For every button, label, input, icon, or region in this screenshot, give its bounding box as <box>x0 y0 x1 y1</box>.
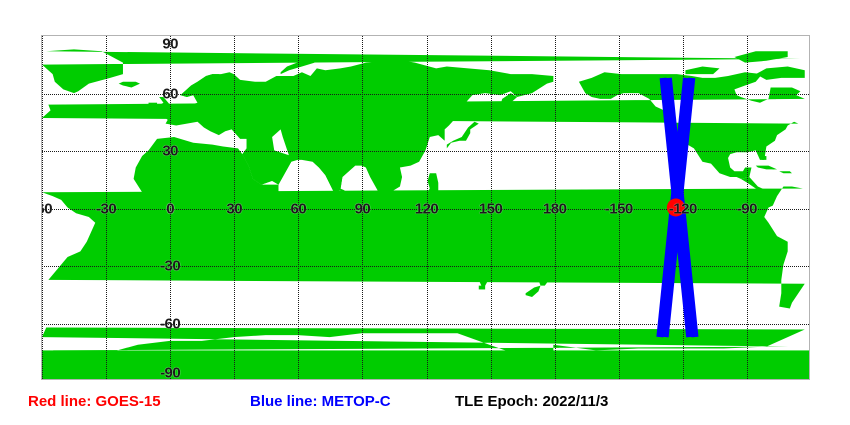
lon-tick-label: -90 <box>737 200 757 217</box>
lon-tick-label: -60 <box>42 200 52 217</box>
lon-tick-label: 90 <box>355 200 371 217</box>
map-plot-frame: -300306090120150180-150-120-90-609060300… <box>41 35 810 380</box>
lat-tick-label: -90 <box>160 365 180 380</box>
lat-tick-label: 30 <box>162 143 178 160</box>
lon-tick-label: 120 <box>415 200 439 217</box>
lon-tick-label: 180 <box>543 200 567 217</box>
lon-tick-label: 60 <box>290 200 306 217</box>
map-clip: -300306090120150180-150-120-90-609060300… <box>42 36 809 379</box>
lon-tick-label: -30 <box>96 200 116 217</box>
lat-tick-label: 60 <box>162 85 178 102</box>
legend-tle-epoch: TLE Epoch: 2022/11/3 <box>455 392 608 412</box>
lon-tick-label: -120 <box>669 200 697 217</box>
lon-tick-label: 30 <box>226 200 242 217</box>
lat-tick-label: -30 <box>160 258 180 275</box>
legend-red-line-goes15: Red line: GOES-15 <box>28 392 161 412</box>
lon-tick-label: 150 <box>479 200 503 217</box>
lat-tick-label: 0 <box>166 200 174 217</box>
lon-tick-label: -150 <box>605 200 633 217</box>
lat-tick-label: 90 <box>162 36 178 53</box>
legend: Red line: GOES-15 Blue line: METOP-C TLE… <box>0 392 850 418</box>
legend-blue-line-metopc: Blue line: METOP-C <box>250 392 391 412</box>
satellite-ground-track-map: -300306090120150180-150-120-90-609060300… <box>0 0 850 425</box>
lat-tick-label: -60 <box>160 315 180 332</box>
